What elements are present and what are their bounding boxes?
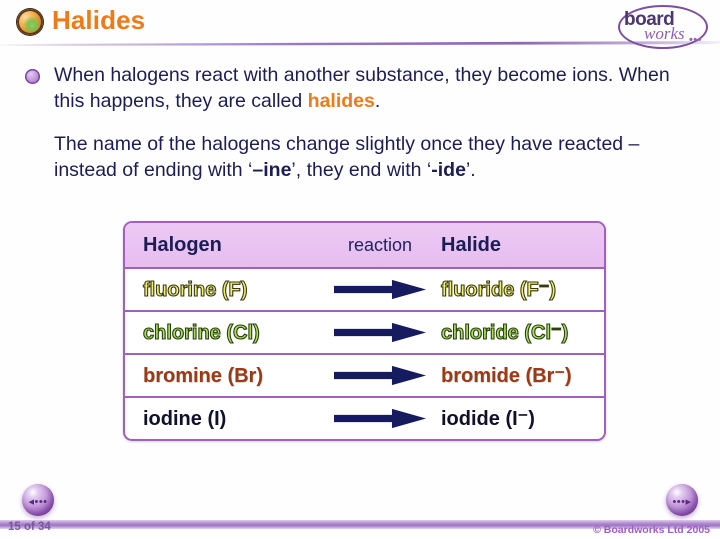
reaction-arrow-cell: [321, 408, 439, 429]
bullet-sphere-icon: [25, 69, 40, 84]
table-row: chlorine (Cl) chloride (Cl⁻): [125, 312, 604, 355]
paragraph-two: The name of the halogens change slightly…: [54, 131, 694, 183]
slide-header: Halides: [0, 0, 720, 48]
paragraph-one: When halogens react with another substan…: [25, 62, 695, 114]
right-arrow-icon: [334, 408, 426, 429]
next-slide-button[interactable]: •••▸: [666, 484, 698, 516]
paragraph-two-part2: ’, they end with ‘: [291, 159, 431, 181]
logo-dots: •••: [689, 34, 702, 46]
paragraph-two-part3: ’.: [466, 159, 476, 181]
halide-table: Halogen reaction Halide fluorine (F) flu…: [123, 221, 606, 441]
previous-slide-button[interactable]: ◂•••: [22, 484, 54, 516]
table-row: fluorine (F) fluoride (F⁻): [125, 269, 604, 312]
cell-halogen: iodine (I): [125, 409, 321, 429]
paragraph-one-tail: .: [375, 90, 380, 112]
paragraph-one-text: When halogens react with another substan…: [54, 62, 695, 114]
page-title: Halides: [52, 5, 145, 36]
boardworks-logo: board works •••: [616, 2, 708, 50]
cell-halide: fluoride (F⁻): [439, 280, 604, 300]
right-arrow-icon: [334, 279, 426, 300]
suffix-ine: –ine: [252, 159, 291, 181]
table-header-row: Halogen reaction Halide: [125, 223, 604, 269]
reaction-arrow-cell: [321, 365, 439, 386]
globe-icon: [17, 9, 43, 35]
next-arrow-icon: •••▸: [666, 484, 698, 516]
table-row: iodine (I) iodide (I⁻): [125, 398, 604, 439]
header-divider: [0, 41, 720, 46]
column-header-halide: Halide: [439, 234, 604, 257]
right-arrow-icon: [334, 322, 426, 343]
page-number: 15 of 34: [8, 521, 51, 533]
column-header-halogen: Halogen: [125, 234, 321, 257]
suffix-ide: -ide: [431, 159, 466, 181]
cell-halide: bromide (Br⁻): [439, 366, 604, 386]
logo-secondary-text: works: [644, 24, 685, 44]
previous-arrow-icon: ◂•••: [22, 484, 54, 516]
cell-halide: chloride (Cl⁻): [439, 323, 604, 343]
cell-halide: iodide (I⁻): [439, 409, 604, 429]
copyright-notice: © Boardworks Ltd 2005: [593, 524, 710, 536]
cell-halogen: bromine (Br): [125, 366, 321, 386]
right-arrow-icon: [334, 365, 426, 386]
reaction-arrow-cell: [321, 279, 439, 300]
cell-halogen: chlorine (Cl): [125, 323, 321, 343]
cell-halogen: fluorine (F): [125, 280, 321, 300]
column-header-reaction: reaction: [321, 235, 439, 256]
halides-highlight: halides: [308, 90, 375, 112]
table-row: bromine (Br) bromide (Br⁻): [125, 355, 604, 398]
reaction-arrow-cell: [321, 322, 439, 343]
